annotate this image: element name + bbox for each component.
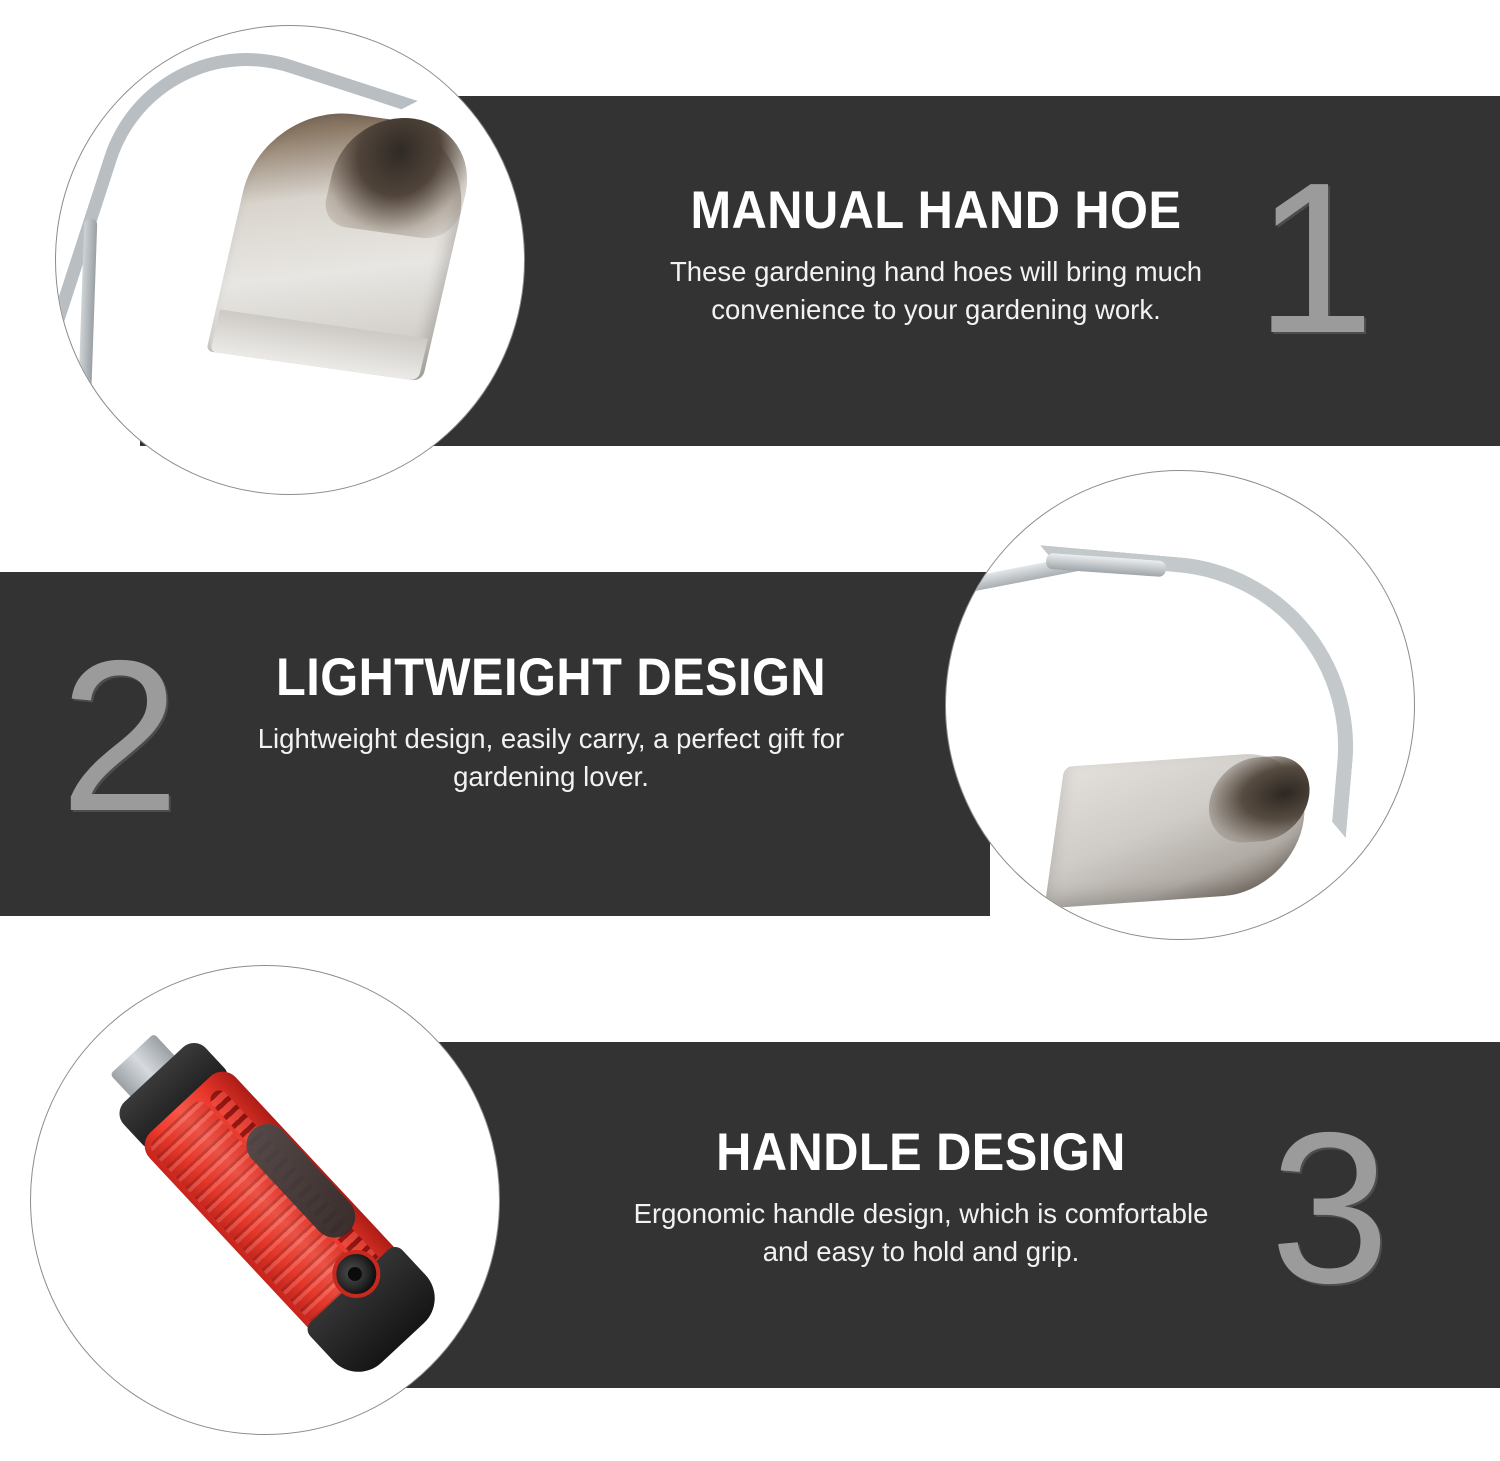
hoe-blade-illustration [56, 26, 524, 494]
feature-text-2: LIGHTWEIGHT DESIGN Lightweight design, e… [215, 650, 887, 796]
product-photo-handle-design [30, 965, 500, 1435]
step-number-1: 1 [1255, 150, 1375, 365]
handle-group [30, 965, 500, 1435]
feature-description-2-line1: Lightweight design, easily carry, a perf… [258, 723, 844, 754]
feature-description-1-line2: convenience to your gardening work. [711, 294, 1160, 325]
feature-text-3: HANDLE DESIGN Ergonomic handle design, w… [585, 1125, 1257, 1271]
feature-description-3-line2: and easy to hold and grip. [763, 1236, 1079, 1267]
feature-description-3: Ergonomic handle design, which is comfor… [585, 1195, 1257, 1271]
feature-description-2-line2: gardening lover. [453, 761, 649, 792]
hoe-blade-shape [1044, 749, 1313, 908]
product-photo-manual-hand-hoe [55, 25, 525, 495]
product-feature-infographic: MANUAL HAND HOE These gardening hand hoe… [0, 0, 1500, 1461]
feature-description-1: These gardening hand hoes will bring muc… [600, 253, 1272, 329]
step-number-3: 3 [1270, 1100, 1390, 1315]
handle-illustration [31, 966, 499, 1434]
feature-description-3-line1: Ergonomic handle design, which is comfor… [634, 1198, 1209, 1229]
product-photo-lightweight-design [945, 470, 1415, 940]
feature-description-1-line1: These gardening hand hoes will bring muc… [670, 256, 1202, 287]
feature-description-2: Lightweight design, easily carry, a perf… [215, 720, 887, 796]
feature-text-1: MANUAL HAND HOE These gardening hand hoe… [600, 183, 1272, 329]
hoe-head-illustration [946, 471, 1414, 939]
feature-title-2: LIGHTWEIGHT DESIGN [242, 650, 860, 706]
feature-title-1: MANUAL HAND HOE [627, 183, 1245, 239]
step-number-2: 2 [60, 628, 180, 843]
feature-title-3: HANDLE DESIGN [612, 1125, 1230, 1181]
